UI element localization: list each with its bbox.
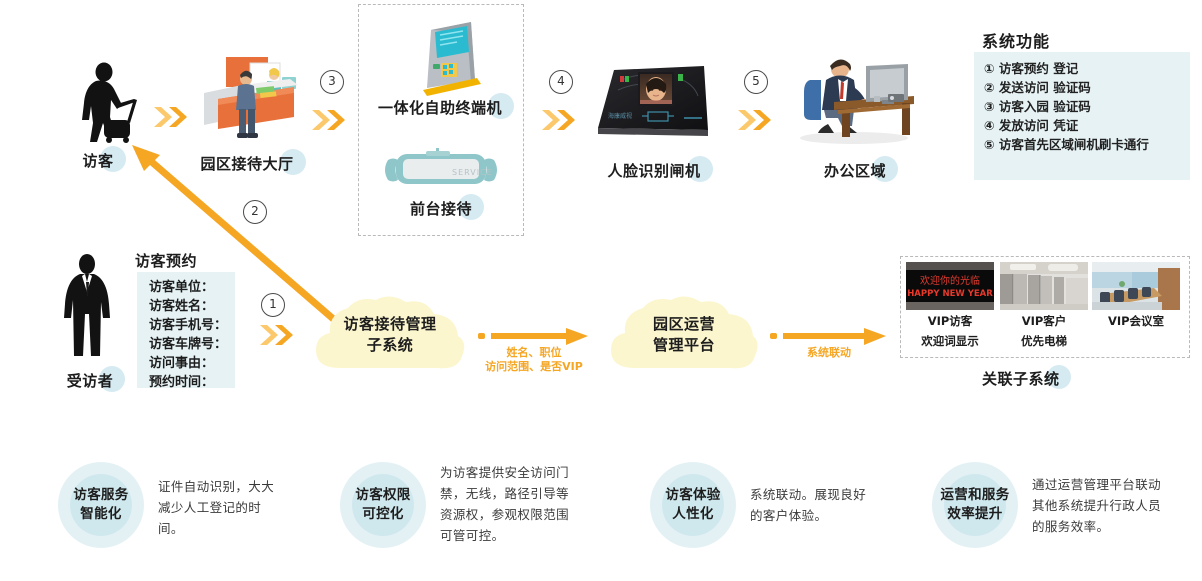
system-function-item: ③ 访客入园 验证码 bbox=[984, 97, 1180, 116]
appointment-form: 访客单位： 访客姓名： 访客手机号： 访客车牌号： 访问事由： 预约时间： bbox=[137, 272, 235, 388]
flow-arrow-subsystem-to-platform: 姓名、职位 访问范围、是否VIP bbox=[478, 328, 590, 372]
flow-node-label-frontdesk: 前台接待 bbox=[386, 198, 496, 219]
benefit-title: 运营和服务 效率提升 bbox=[932, 462, 1018, 548]
svg-text:海康威视: 海康威视 bbox=[608, 112, 632, 120]
system-function-item: ④ 发放访问 凭证 bbox=[984, 116, 1180, 135]
office-area-illustration bbox=[790, 52, 918, 148]
flow-node-label-facegate: 人脸识别闸机 bbox=[590, 160, 718, 181]
arrow2-caption-line1: 系统联动 bbox=[807, 346, 851, 360]
cloud-subsystem-line1: 访客接待管理 bbox=[343, 314, 436, 335]
flow-node-label-office: 办公区域 bbox=[795, 160, 915, 181]
appointment-field-label: 预约时间： bbox=[149, 373, 225, 392]
associated-item-led-welcome: 欢迎你的光临 HAPPY NEW YEAR VIP访客 欢迎词显示 bbox=[906, 262, 994, 350]
benefit-title-line1: 运营和服务 bbox=[941, 486, 1010, 505]
cloud-platform-line1: 园区运营 bbox=[653, 314, 715, 335]
host-person-label: 受访者 bbox=[50, 370, 130, 391]
benefit-title-line1: 访客权限 bbox=[355, 486, 410, 505]
associated-item-caption-line1: VIP客户 bbox=[1000, 313, 1088, 330]
system-functions-panel: ① 访客预约 登记 ② 发送访问 验证码 ③ 访客入园 验证码 ④ 发放访问 凭… bbox=[974, 52, 1190, 180]
associated-item-meeting-room: VIP会议室 bbox=[1092, 262, 1180, 333]
appointment-field-label: 访客车牌号： bbox=[149, 335, 225, 354]
flow-node-label-kiosk: 一体化自助终端机 bbox=[366, 97, 514, 118]
step-marker-2: 2 bbox=[243, 200, 267, 224]
benefit-title: 访客权限 可控化 bbox=[340, 462, 426, 548]
system-function-item: ⑤ 访客首先区域闸机刷卡通行 bbox=[984, 135, 1180, 154]
system-function-item: ② 发送访问 验证码 bbox=[984, 78, 1180, 97]
benefit-title: 访客体验 人性化 bbox=[650, 462, 736, 548]
system-function-item: ① 访客预约 登记 bbox=[984, 59, 1180, 78]
chevron-visitor-to-lobby-icon bbox=[152, 105, 190, 129]
arrow1-caption-line2: 访问范围、是否VIP bbox=[485, 360, 583, 374]
benefit-title-line1: 访客服务 bbox=[73, 486, 128, 505]
benefit-title-line2: 可控化 bbox=[362, 505, 403, 524]
step-marker-5: 5 bbox=[744, 70, 768, 94]
cloud-subsystem-line2: 子系统 bbox=[367, 335, 414, 356]
chevron-form-to-subsystem-icon bbox=[258, 323, 296, 347]
benefit-description: 证件自动识别，大大减少人工登记的时间。 bbox=[158, 476, 286, 539]
benefit-description: 通过运营管理平台联动其他系统提升行政人员的服务效率。 bbox=[1032, 474, 1172, 537]
appointment-field-label: 访客手机号： bbox=[149, 316, 225, 335]
reception-lobby-illustration bbox=[190, 55, 305, 144]
benefit-title-line2: 人性化 bbox=[672, 505, 713, 524]
led-text-en: HAPPY NEW YEAR bbox=[907, 289, 993, 299]
host-person-silhouette-icon bbox=[56, 252, 118, 364]
elevator-lobby-image bbox=[1000, 262, 1088, 310]
cloud-platform-text: 园区运营 管理平台 bbox=[605, 294, 763, 376]
step-marker-4: 4 bbox=[549, 70, 573, 94]
chevron-facegate-to-office-icon bbox=[736, 108, 774, 132]
benefit-title-line2: 效率提升 bbox=[947, 505, 1002, 524]
benefit-item-4: 运营和服务 效率提升 通过运营管理平台联动其他系统提升行政人员的服务效率。 bbox=[932, 462, 1182, 562]
appointment-field-label: 访问事由： bbox=[149, 354, 225, 373]
benefit-item-2: 访客权限 可控化 为访客提供安全访问门禁，无线，路径引导等资源权，参观权限范围可… bbox=[340, 462, 590, 562]
benefit-description: 为访客提供安全访问门禁，无线，路径引导等资源权，参观权限范围可管可控。 bbox=[440, 462, 580, 546]
appointment-field-label: 访客姓名： bbox=[149, 297, 225, 316]
step-marker-3: 3 bbox=[320, 70, 344, 94]
appointment-field-label: 访客单位： bbox=[149, 278, 225, 297]
associated-item-elevator: VIP客户 优先电梯 bbox=[1000, 262, 1088, 350]
associated-item-caption-line2: 欢迎词显示 bbox=[906, 333, 994, 350]
appointment-form-title: 访客预约 bbox=[135, 250, 197, 271]
self-service-kiosk-illustration bbox=[415, 18, 489, 100]
flow-arrow-2-caption: 系统联动 bbox=[807, 346, 851, 360]
system-functions-title: 系统功能 bbox=[982, 28, 1050, 52]
diagram-canvas: 访客 bbox=[0, 0, 1202, 581]
led-text-cn: 欢迎你的光临 bbox=[920, 274, 980, 287]
cloud-platform-line2: 管理平台 bbox=[653, 335, 715, 356]
associated-item-caption-line2: 优先电梯 bbox=[1000, 333, 1088, 350]
associated-item-caption-line1: VIP会议室 bbox=[1092, 313, 1180, 330]
front-desk-device-illustration: SERVICE bbox=[382, 148, 500, 197]
flow-arrow-platform-to-subsystems: 系统联动 bbox=[770, 328, 888, 368]
associated-subsystems-title: 关联子系统 bbox=[982, 368, 1060, 389]
cloud-visitor-reception-subsystem: 访客接待管理 子系统 bbox=[310, 294, 470, 376]
face-recognition-terminal-illustration: 海康威视 bbox=[592, 62, 712, 144]
associated-item-caption-line1: VIP访客 bbox=[906, 313, 994, 330]
svg-text:SERVICE: SERVICE bbox=[452, 168, 493, 177]
arrow1-caption-line1: 姓名、职位 bbox=[485, 346, 583, 360]
benefit-title-line2: 智能化 bbox=[80, 505, 121, 524]
meeting-room-image bbox=[1092, 262, 1180, 310]
cloud-subsystem-text: 访客接待管理 子系统 bbox=[310, 294, 470, 376]
benefit-description: 系统联动。展现良好的客户体验。 bbox=[750, 484, 872, 526]
step-marker-1: 1 bbox=[261, 293, 285, 317]
chevron-lobby-to-kiosk-icon bbox=[310, 108, 348, 132]
benefit-item-1: 访客服务 智能化 证件自动识别，大大减少人工登记的时间。 bbox=[58, 462, 298, 562]
cloud-park-operations-platform: 园区运营 管理平台 bbox=[605, 294, 763, 376]
led-welcome-board-image: 欢迎你的光临 HAPPY NEW YEAR bbox=[906, 262, 994, 310]
chevron-kiosk-to-facegate-icon bbox=[540, 108, 578, 132]
benefit-title: 访客服务 智能化 bbox=[58, 462, 144, 548]
benefit-title-line1: 访客体验 bbox=[665, 486, 720, 505]
flow-arrow-1-caption: 姓名、职位 访问范围、是否VIP bbox=[485, 346, 583, 374]
benefit-item-3: 访客体验 人性化 系统联动。展现良好的客户体验。 bbox=[650, 462, 890, 562]
system-functions-list: ① 访客预约 登记 ② 发送访问 验证码 ③ 访客入园 验证码 ④ 发放访问 凭… bbox=[984, 59, 1180, 154]
